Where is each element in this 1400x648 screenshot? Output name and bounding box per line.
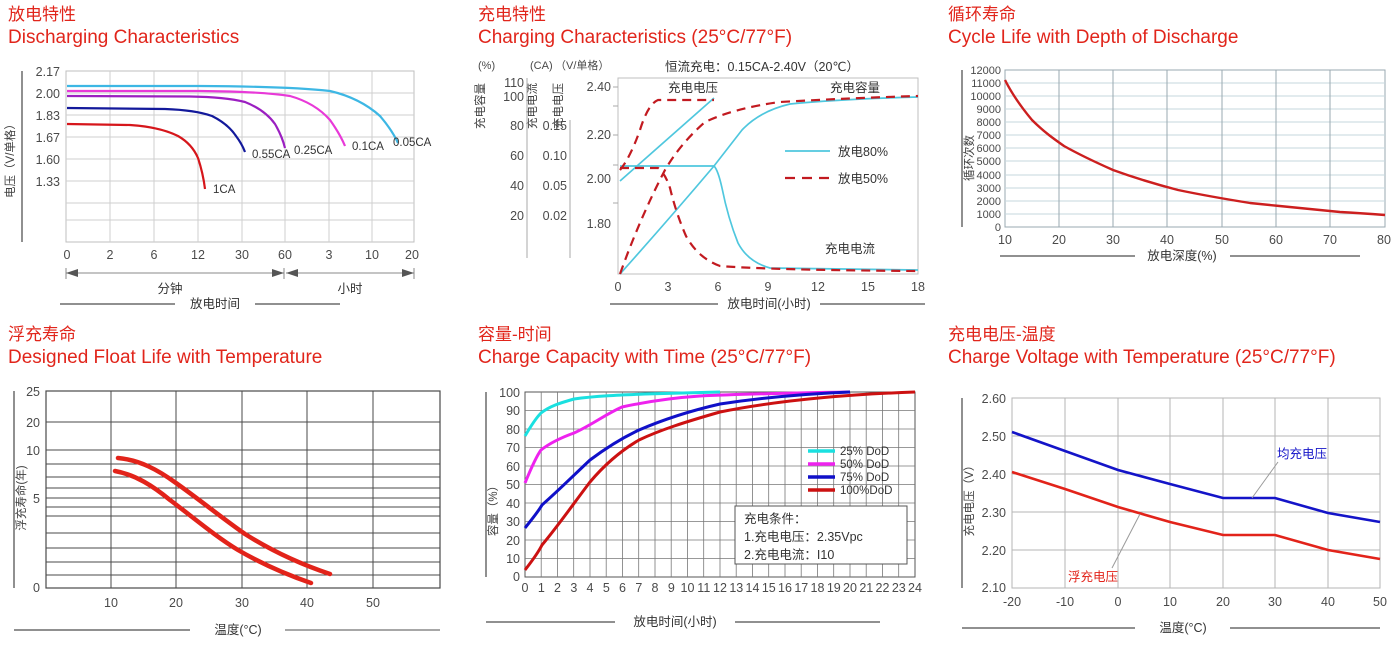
chart-charge-voltage: 2.60 2.50 2.40 2.30 2.20 2.10 充电电压（V） 均充… (940, 378, 1400, 648)
y-axis-title: 充电电压（V） (962, 460, 976, 537)
legend-label: 75% DoD (840, 472, 889, 484)
y1-tick: 80 (510, 119, 524, 133)
xtick-label: 23 (892, 581, 906, 595)
xtick-label: 24 (908, 581, 922, 595)
xtick-label: 19 (827, 581, 841, 595)
x-axis-title: 温度(°C) (214, 622, 261, 637)
panel-discharging: 放电特性 Discharging Characteristics 2.17 2.… (0, 0, 470, 315)
y1-tick: 20 (510, 209, 524, 223)
xtick-label: 6 (619, 581, 626, 595)
ytick-label: 40 (506, 497, 520, 511)
xtick-label: 0 (1115, 595, 1122, 609)
curve-label-01ca: 0.1CA (352, 141, 384, 153)
y-axis-title: 容量（%） (486, 480, 500, 536)
xtick-label: -10 (1056, 595, 1074, 609)
annotation-float-voltage: 浮充电压 (1068, 569, 1118, 584)
curve-label-charge-current: 充电电流 (825, 241, 876, 256)
curve-label-025ca: 0.25CA (294, 145, 333, 157)
y3-unit: （V/单格） (555, 58, 609, 72)
xtick-label: 60 (1269, 233, 1283, 247)
ytick-label: 0 (33, 581, 40, 595)
ytick-label: 2.30 (982, 506, 1006, 520)
ytick-label: 11000 (971, 78, 1001, 90)
ytick-label: 1000 (977, 209, 1001, 221)
xtick-label: 9 (668, 581, 675, 595)
y1-tick: 100 (503, 90, 524, 104)
xtick-label: -20 (1003, 595, 1021, 609)
xtick-label: 40 (300, 596, 314, 610)
chart-cycle-life: 12000 11000 10000 9000 8000 7000 6000 50… (940, 58, 1400, 308)
y2-tick: 0.05 (543, 179, 567, 193)
axis-segment-minutes: 分钟 (157, 281, 182, 296)
panel-charging-title-en: Charging Characteristics (25°C/77°F) (478, 26, 792, 49)
ytick-label: 60 (506, 460, 520, 474)
xtick-label: 22 (876, 581, 890, 595)
xtick-label: 12 (191, 248, 205, 262)
panel-charge-capacity-title-en: Charge Capacity with Time (25°C/77°F) (478, 346, 811, 369)
ytick-label: 12000 (970, 65, 1001, 77)
xtick-label: 3 (570, 581, 577, 595)
ytick-label: 2.20 (982, 544, 1006, 558)
panel-charge-voltage: 充电电压-温度 Charge Voltage with Temperature … (940, 320, 1400, 648)
curve-label-charge-capacity: 充电容量 (830, 80, 880, 95)
y1-tick: 40 (510, 179, 524, 193)
xtick-label: 10 (1163, 595, 1177, 609)
xtick-label: 7 (635, 581, 642, 595)
annotation-equalize-voltage: 均充电压 (1277, 446, 1327, 461)
xtick-label: 0 (615, 280, 622, 294)
ytick-label: 1.60 (36, 153, 60, 167)
ytick-label: 2.40 (982, 468, 1006, 482)
xtick-label: 50 (366, 596, 380, 610)
xtick-label: 0 (64, 248, 71, 262)
xtick-label: 17 (794, 581, 808, 595)
xtick-label: 2 (107, 248, 114, 262)
panel-float-life-title-en: Designed Float Life with Temperature (8, 346, 322, 369)
xtick-label: 20 (1052, 233, 1066, 247)
xtick-label: 14 (746, 581, 760, 595)
ytick-label: 2.17 (36, 65, 60, 79)
xtick-label: 30 (235, 248, 249, 262)
curve-label-1ca: 1CA (213, 184, 236, 196)
ytick-label: 25 (26, 385, 40, 399)
curve-label-055ca: 0.55CA (252, 149, 291, 161)
x-axis-title: 放电深度(%) (1147, 248, 1216, 263)
xtick-label: 5 (603, 581, 610, 595)
charge-conditions-line: 1.充电电压：2.35Vpc (744, 529, 863, 544)
ytick-label: 1.83 (36, 109, 60, 123)
xtick-label: 20 (1216, 595, 1230, 609)
y2-tick: 0.02 (543, 209, 567, 223)
xtick-label: 0 (522, 581, 529, 595)
legend-label: 25% DoD (840, 446, 889, 458)
xtick-label: 15 (762, 581, 776, 595)
legend-label: 100%DoD (840, 485, 892, 497)
x-axis-title: 放电时间(小时) (727, 296, 810, 311)
y1-unit: (%) (478, 60, 495, 72)
panel-charge-capacity-title-cn: 容量-时间 (478, 325, 552, 344)
legend-label: 放电80% (838, 144, 888, 159)
ytick-label: 6000 (977, 143, 1001, 155)
xtick-label: 18 (811, 581, 825, 595)
x-axis-title: 放电时间(小时) (633, 614, 716, 629)
ytick-label: 20 (26, 416, 40, 430)
ytick-label: 2.50 (982, 430, 1006, 444)
xtick-label: 21 (859, 581, 873, 595)
xtick-label: 3 (326, 248, 333, 262)
chart-charging: 恒流充电：0.15CA-2.40V（20℃） (%) (CA) （V/单格） 充… (470, 58, 940, 308)
panel-cycle-life: 循环寿命 Cycle Life with Depth of Discharge … (940, 0, 1400, 315)
y3-tick: 2.20 (587, 128, 611, 142)
chart-charge-capacity: 100 90 80 70 60 50 40 30 20 10 0 容量（%） 2… (470, 378, 940, 648)
y3-tick: 1.80 (587, 217, 611, 231)
xtick-label: 20 (843, 581, 857, 595)
xtick-label: 50 (1215, 233, 1229, 247)
panel-cycle-life-title-cn: 循环寿命 (948, 5, 1016, 24)
legend-label: 50% DoD (840, 459, 889, 471)
ytick-label: 5 (33, 492, 40, 506)
y-axis-title: 浮充寿命(年) (14, 465, 28, 530)
ytick-label: 10 (506, 552, 520, 566)
xtick-label: 40 (1321, 595, 1335, 609)
xtick-label: 15 (861, 280, 875, 294)
ytick-label: 2.10 (982, 581, 1006, 595)
ytick-label: 9000 (977, 104, 1001, 116)
xtick-label: 3 (665, 280, 672, 294)
chart-discharging: 2.17 2.00 1.83 1.67 1.60 1.33 电压（V/单格） 0… (0, 58, 470, 308)
y-axis-title: 电压（V/单格） (3, 118, 17, 198)
ytick-label: 7000 (977, 130, 1001, 142)
y3-tick: 2.40 (587, 80, 611, 94)
panel-charge-voltage-title-en: Charge Voltage with Temperature (25°C/77… (948, 346, 1336, 369)
y2-tick: 0.10 (543, 149, 567, 163)
ytick-label: 2.00 (36, 87, 60, 101)
xtick-label: 30 (1268, 595, 1282, 609)
ytick-label: 100 (499, 386, 520, 400)
xtick-label: 18 (911, 280, 925, 294)
xtick-label: 13 (729, 581, 743, 595)
ytick-label: 90 (506, 404, 520, 418)
y1-tick: 110 (504, 76, 524, 90)
xtick-label: 1 (538, 581, 545, 595)
panel-discharging-title-cn: 放电特性 (8, 5, 76, 24)
panel-charge-capacity: 容量-时间 Charge Capacity with Time (25°C/77… (470, 320, 940, 648)
charge-conditions-line: 2.充电电流：I10 (744, 547, 834, 562)
y2-tick: 0.15 (543, 119, 567, 133)
xtick-label: 4 (587, 581, 594, 595)
xtick-label: 30 (1106, 233, 1120, 247)
xtick-label: 10 (365, 248, 379, 262)
panel-charging-title-cn: 充电特性 (478, 5, 546, 24)
xtick-label: 80 (1377, 233, 1391, 247)
xtick-label: 12 (713, 581, 727, 595)
ytick-label: 0 (513, 570, 520, 584)
xtick-label: 11 (697, 581, 710, 595)
ytick-label: 70 (506, 441, 520, 455)
xtick-label: 12 (811, 280, 825, 294)
ytick-label: 2000 (977, 196, 1001, 208)
ytick-label: 30 (506, 515, 520, 529)
ytick-label: 1.33 (36, 175, 60, 189)
panel-discharging-title-en: Discharging Characteristics (8, 26, 239, 49)
xtick-label: 10 (998, 233, 1012, 247)
y3-tick: 2.00 (587, 172, 611, 186)
charge-conditions-box: 充电条件： 1.充电电压：2.35Vpc 2.充电电流：I10 (735, 506, 907, 564)
ytick-label: 2.60 (982, 392, 1006, 406)
y2-unit: (CA) (530, 60, 553, 72)
curve-label-005ca: 0.05CA (393, 137, 432, 149)
x-axis-title: 温度(°C) (1159, 620, 1206, 635)
ytick-label: 80 (506, 423, 520, 437)
axis-segment-hours: 小时 (337, 282, 363, 296)
chart-float-life: 25 20 10 5 0 浮充寿命(年) 10 20 30 40 50 温度(°… (0, 378, 470, 648)
ytick-label: 8000 (977, 117, 1001, 129)
ytick-label: 10 (26, 444, 40, 458)
xtick-label: 50 (1373, 595, 1387, 609)
y1-axis-title: 充电容量 (473, 83, 487, 129)
xtick-label: 10 (681, 581, 695, 595)
xtick-label: 20 (405, 248, 419, 262)
panel-float-life: 浮充寿命 Designed Float Life with Temperatur… (0, 320, 470, 648)
charging-note: 恒流充电：0.15CA-2.40V（20℃） (665, 59, 859, 74)
ytick-label: 4000 (977, 170, 1001, 182)
ytick-label: 5000 (977, 156, 1001, 168)
y1-tick: 60 (510, 149, 524, 163)
xtick-label: 40 (1160, 233, 1174, 247)
ytick-label: 50 (506, 478, 520, 492)
curve-label-charge-voltage: 充电电压 (668, 80, 718, 95)
xtick-label: 20 (169, 596, 183, 610)
xtick-label: 70 (1323, 233, 1337, 247)
charge-conditions-line: 充电条件： (744, 511, 807, 526)
y-axis-title: 循环次数 (962, 135, 976, 181)
xtick-label: 30 (235, 596, 249, 610)
xtick-label: 8 (652, 581, 659, 595)
xtick-label: 60 (278, 248, 292, 262)
legend-label: 放电50% (838, 171, 888, 186)
xtick-label: 16 (778, 581, 792, 595)
panel-float-life-title-cn: 浮充寿命 (8, 325, 76, 344)
x-axis-title: 放电时间 (190, 296, 240, 311)
panel-cycle-life-title-en: Cycle Life with Depth of Discharge (948, 26, 1238, 49)
xtick-label: 9 (765, 280, 772, 294)
xtick-label: 2 (554, 581, 561, 595)
xtick-label: 6 (151, 248, 158, 262)
xtick-label: 6 (715, 280, 722, 294)
panel-charge-voltage-title-cn: 充电电压-温度 (948, 325, 1056, 344)
ytick-label: 1.67 (36, 131, 60, 145)
ytick-label: 20 (506, 534, 520, 548)
ytick-label: 10000 (970, 91, 1001, 103)
ytick-label: 3000 (977, 183, 1001, 195)
panel-charging: 充电特性 Charging Characteristics (25°C/77°F… (470, 0, 940, 315)
xtick-label: 10 (104, 596, 118, 610)
